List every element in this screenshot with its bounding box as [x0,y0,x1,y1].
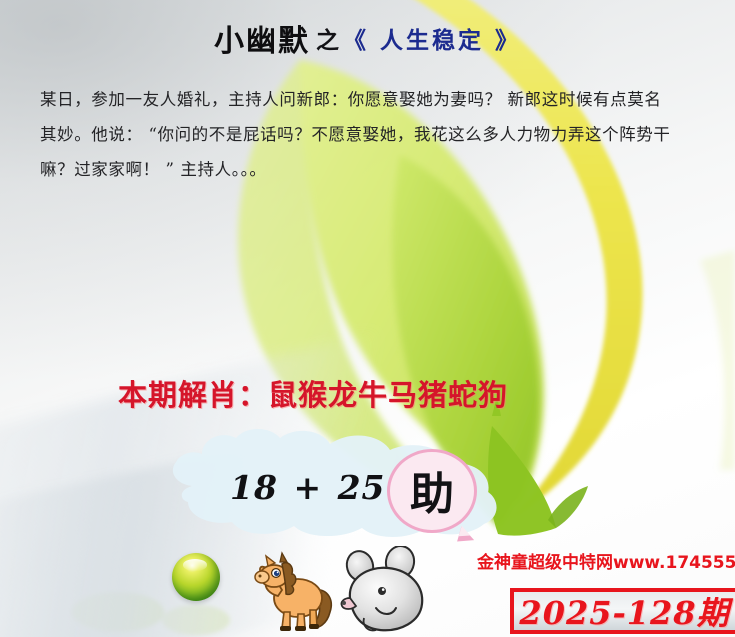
story-line-1: 某日，参加一友人婚礼，主持人问新郎：你愿意娶她为妻吗？ 新郎这时候有点莫名 [40,82,708,117]
cartoon-horse-icon [252,544,338,637]
answer-speech-bubble: 助 [387,449,477,533]
issue-number-text: 2025-128期 [519,588,729,634]
story-line-2: 其妙。他说： “你问的不是屁话吗？不愿意娶她，我花这么多人力物力弄这个阵势干 [40,117,708,152]
formula-plus-operator: + [293,468,322,507]
title-main-text: 小幽默 [214,24,310,59]
prediction-line: 本期解肖：鼠猴龙牛马猪蛇狗 [118,372,508,414]
title-subtitle-text: 《 人生稳定 》 [343,28,521,54]
green-gloss-ball-icon [172,553,220,601]
title-connector-text: 之 [316,28,339,54]
formula-right-number: 25 [338,468,386,507]
answer-character: 助 [387,449,477,533]
page-title: 小幽默之《 人生稳定 》 [0,16,735,60]
right-edge-wash-icon [700,250,735,470]
story-line-3: 嘛？过家家啊！ ” 主持人。。。 [40,152,708,187]
site-watermark: 金神童超级中特网www.174555.com [477,548,735,573]
poster-canvas: 小幽默之《 人生稳定 》 某日，参加一友人婚礼，主持人问新郎：你愿意娶她为妻吗？… [0,0,735,637]
story-text-block: 某日，参加一友人婚礼，主持人问新郎：你愿意娶她为妻吗？ 新郎这时候有点莫名 其妙… [40,82,708,187]
formula-left-number: 18 [230,468,278,507]
cartoon-mouse-icon [338,546,430,637]
issue-badge: 2025-128期 [510,588,735,634]
